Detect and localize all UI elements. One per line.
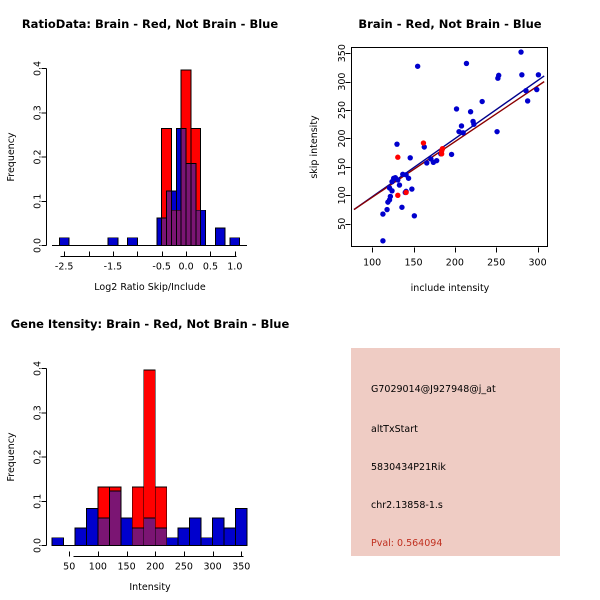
scatter-plot-frame <box>352 48 548 247</box>
x-tick-label: 100 <box>89 562 107 573</box>
scatter-point-not-brain <box>459 123 464 128</box>
regression-line <box>354 82 544 210</box>
histogram-bar-not-brain <box>128 238 138 246</box>
histogram-bar-not-brain <box>121 518 132 545</box>
x-tick-label: 150 <box>404 258 422 269</box>
scatter-point-not-brain <box>468 109 473 114</box>
panel-ratio-histogram: RatioData: Brain - Red, Not Brain - Blue… <box>0 0 300 300</box>
gene-x-tick-labels: 50100150200250300350 <box>63 562 250 573</box>
scatter-point-not-brain <box>384 207 389 212</box>
scatter-point-not-brain <box>536 72 541 77</box>
gene-x-ticks <box>70 552 242 557</box>
scatter-svg: Brain - Red, Not Brain - Blue 5010015020… <box>300 0 600 300</box>
scatter-point-not-brain <box>518 49 523 54</box>
histogram-bar-not-brain <box>215 228 225 246</box>
scatter-point-not-brain <box>412 213 417 218</box>
scatter-point-brain <box>403 190 408 195</box>
x-tick-label: -1.5 <box>104 262 123 273</box>
gene-histogram-title: Gene Itensity: Brain - Red, Not Brain - … <box>11 317 290 331</box>
ratio-x-tick-labels: -2.5-1.5-0.50.00.51.0 <box>55 262 242 273</box>
svg-text:0.2: 0.2 <box>32 149 43 164</box>
histogram-bar-overlap <box>162 218 167 245</box>
plot-device: RatioData: Brain - Red, Not Brain - Blue… <box>0 0 600 600</box>
histogram-bar-overlap <box>167 191 172 246</box>
histogram-bar-not-brain <box>52 538 63 546</box>
scatter-point-brain <box>395 155 400 160</box>
scatter-x-tick-labels: 100150200250300 <box>363 258 547 269</box>
annotation-event-type: altTxStart <box>371 424 418 435</box>
x-tick-label: -0.5 <box>152 262 171 273</box>
histogram-bar-not-brain <box>236 509 247 546</box>
y-tick-label: 100 <box>337 186 348 204</box>
scatter-point-not-brain <box>389 188 394 193</box>
scatter-point-not-brain <box>415 64 420 69</box>
svg-text:0.0: 0.0 <box>32 238 43 253</box>
svg-text:0.1: 0.1 <box>32 494 43 509</box>
ratio-y-axis-label: Frequency <box>6 132 17 181</box>
scatter-point-not-brain <box>409 186 414 191</box>
histogram-bar-overlap <box>171 210 176 245</box>
scatter-point-not-brain <box>408 155 413 160</box>
y-tick-label: 250 <box>337 101 348 119</box>
histogram-bar-not-brain <box>213 518 224 545</box>
histogram-bar-overlap <box>109 491 120 546</box>
x-tick-label: -2.5 <box>55 262 74 273</box>
scatter-point-brain <box>421 140 426 145</box>
regression-line <box>354 76 544 210</box>
histogram-bar-not-brain <box>190 518 201 545</box>
x-tick-label: 250 <box>175 562 193 573</box>
x-tick-label: 300 <box>204 562 222 573</box>
scatter-point-brain <box>440 146 445 151</box>
scatter-point-not-brain <box>394 141 399 146</box>
histogram-bar-overlap <box>191 163 196 245</box>
scatter-point-not-brain <box>519 72 524 77</box>
ratio-histogram-title: RatioData: Brain - Red, Not Brain - Blue <box>22 17 279 31</box>
x-tick-label: 150 <box>117 562 135 573</box>
svg-text:0.4: 0.4 <box>32 361 43 376</box>
svg-text:0.1: 0.1 <box>32 194 43 209</box>
histogram-bar-not-brain <box>86 509 97 546</box>
scatter-fit-lines <box>354 76 544 210</box>
svg-text:0.0: 0.0 <box>32 538 43 553</box>
histogram-bar-overlap <box>132 528 143 546</box>
svg-text:0.3: 0.3 <box>32 405 43 420</box>
scatter-point-not-brain <box>464 61 469 66</box>
ratio-x-axis-label: Log2 Ratio Skip/Include <box>94 282 206 293</box>
histogram-bar-not-brain <box>201 538 212 546</box>
scatter-x-ticks <box>373 248 539 253</box>
scatter-point-not-brain <box>449 152 454 157</box>
gene-annotation-box: G7029014@J927948@j_at altTxStart 5830434… <box>351 348 560 556</box>
gene-y-tick-labels: 0.0 0.1 0.2 0.3 0.4 <box>32 361 43 553</box>
annotation-pvalue: Pval: 0.564094 <box>371 538 442 549</box>
y-tick-label: 350 <box>337 44 348 62</box>
scatter-point-not-brain <box>380 238 385 243</box>
scatter-point-not-brain <box>424 160 429 165</box>
histogram-bar-not-brain <box>75 528 86 546</box>
y-tick-label: 200 <box>337 129 348 147</box>
scatter-point-not-brain <box>496 73 501 78</box>
histogram-bar-not-brain <box>230 238 240 246</box>
x-tick-label: 200 <box>146 562 164 573</box>
scatter-y-tick-labels: 50100150200250300350 <box>337 44 348 230</box>
x-tick-label: 1.0 <box>227 262 242 273</box>
histogram-bar-overlap <box>176 210 181 245</box>
scatter-point-not-brain <box>494 129 499 134</box>
gene-histogram-svg: Gene Itensity: Brain - Red, Not Brain - … <box>0 300 300 600</box>
scatter-y-axis-label: skip intensity <box>309 115 320 179</box>
histogram-bar-overlap <box>144 518 155 545</box>
svg-text:0.2: 0.2 <box>32 449 43 464</box>
annotation-locus: chr2.13858-1.s <box>371 500 443 511</box>
scatter-point-not-brain <box>534 87 539 92</box>
x-tick-label: 350 <box>232 562 250 573</box>
scatter-x-axis-label: include intensity <box>411 283 490 294</box>
ratio-histogram-svg: RatioData: Brain - Red, Not Brain - Blue… <box>0 0 300 300</box>
svg-text:0.4: 0.4 <box>32 61 43 76</box>
scatter-point-not-brain <box>388 194 393 199</box>
histogram-bar-not-brain <box>108 238 118 246</box>
histogram-bar-not-brain <box>167 538 178 546</box>
histogram-bar-not-brain <box>59 238 69 246</box>
y-tick-label: 50 <box>337 218 348 230</box>
scatter-point-not-brain <box>380 211 385 216</box>
histogram-bar-overlap <box>98 518 109 545</box>
x-tick-label: 200 <box>446 258 464 269</box>
scatter-data-points <box>380 49 541 243</box>
ratio-x-ticks <box>65 252 236 257</box>
scatter-point-not-brain <box>460 130 465 135</box>
scatter-point-not-brain <box>471 122 476 127</box>
scatter-point-not-brain <box>525 98 530 103</box>
panel-gene-intensity-histogram: Gene Itensity: Brain - Red, Not Brain - … <box>0 300 300 600</box>
histogram-bar-overlap <box>186 163 191 245</box>
scatter-point-not-brain <box>479 99 484 104</box>
ratio-histogram-bars <box>59 70 239 246</box>
gene-x-axis-label: Intensity <box>129 582 171 593</box>
x-tick-label: 250 <box>487 258 505 269</box>
ratio-y-tick-labels: 0.0 0.1 0.2 0.3 0.4 <box>32 61 43 253</box>
scatter-point-not-brain <box>454 106 459 111</box>
annotation-gene-symbol: 5830434P21Rik <box>371 462 446 473</box>
histogram-bar-overlap <box>196 210 201 245</box>
annotation-probe-id: G7029014@J927948@j_at <box>371 384 496 395</box>
scatter-point-not-brain <box>395 177 400 182</box>
scatter-point-not-brain <box>397 182 402 187</box>
scatter-point-not-brain <box>399 205 404 210</box>
scatter-point-not-brain <box>406 176 411 181</box>
histogram-bar-not-brain <box>178 528 189 546</box>
histogram-bar-not-brain <box>224 528 235 546</box>
gene-histogram-bars <box>52 370 247 546</box>
gene-y-axis-label: Frequency <box>6 432 17 481</box>
histogram-bar-overlap <box>181 129 186 246</box>
x-tick-label: 300 <box>529 258 547 269</box>
scatter-point-brain <box>395 193 400 198</box>
panel-intensity-scatter: Brain - Red, Not Brain - Blue 5010015020… <box>300 0 600 300</box>
y-tick-label: 150 <box>337 158 348 176</box>
scatter-title: Brain - Red, Not Brain - Blue <box>358 17 541 31</box>
x-tick-label: 100 <box>363 258 381 269</box>
histogram-bar-overlap <box>155 528 166 546</box>
y-tick-label: 300 <box>337 73 348 91</box>
x-tick-label: 50 <box>63 562 75 573</box>
scatter-point-not-brain <box>523 88 528 93</box>
panel-gene-annotation: G7029014@J927948@j_at altTxStart 5830434… <box>300 300 600 600</box>
svg-text:0.3: 0.3 <box>32 105 43 120</box>
scatter-point-not-brain <box>434 158 439 163</box>
x-tick-label: 0.0 <box>179 262 194 273</box>
x-tick-label: 0.5 <box>203 262 218 273</box>
